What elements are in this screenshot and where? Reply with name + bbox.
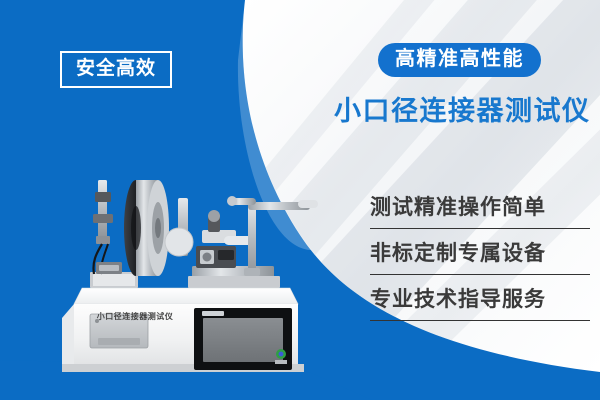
page-title: 小口径连接器测试仪 (334, 98, 591, 125)
crank-upright (248, 202, 256, 274)
safety-tag: 安全高效 (60, 51, 172, 88)
highlight-pill: 高精准高性能 (378, 43, 541, 77)
copy-block: 高精准高性能 小口径连接器测试仪 测试精准操作简单 非标定制专属设备 专业技术指… (358, 0, 600, 400)
feature-list: 测试精准操作简单 非标定制专属设备 专业技术指导服务 (370, 196, 590, 334)
touchscreen-display[interactable] (203, 318, 283, 362)
right-work-bay (188, 276, 280, 288)
product-banner: 安全高效 (0, 0, 600, 400)
sensor-post (98, 180, 107, 238)
machine-illustration (52, 158, 320, 388)
feature-label: 专业技术指导服务 (370, 288, 590, 311)
screen-brand-logo (202, 311, 224, 316)
product-image: 小口径连接器测试仪 (52, 158, 320, 388)
access-plate-slot (98, 338, 140, 345)
product-front-label: 小口径连接器测试仪 (72, 313, 198, 321)
feature-label: 测试精准操作简单 (370, 196, 590, 219)
machine-top-deck (74, 288, 298, 304)
feature-label: 非标定制专属设备 (370, 242, 590, 265)
list-item: 测试精准操作简单 (370, 196, 590, 229)
badge-text-block (275, 360, 287, 364)
list-item: 非标定制专属设备 (370, 242, 590, 275)
list-item: 专业技术指导服务 (370, 288, 590, 321)
